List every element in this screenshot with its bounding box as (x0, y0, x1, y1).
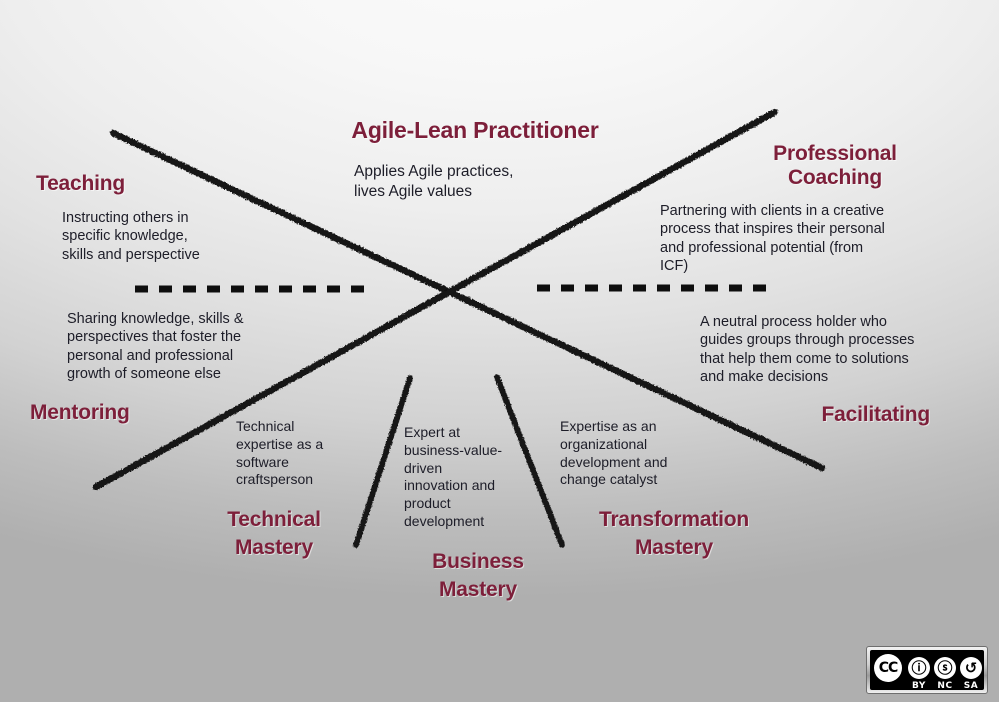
node-transformation-mastery: Expertise as an organizational developme… (560, 418, 810, 562)
cc-sharealike-icon: ↺ (960, 657, 982, 679)
node-business-mastery: Expert at business-value- driven innovat… (404, 424, 564, 603)
technical-mastery-heading: Technical Mastery (194, 506, 354, 562)
cc-nc-label: NC (934, 681, 956, 691)
cc-by-label: BY (908, 681, 930, 691)
business-mastery-heading: Business Mastery (404, 548, 552, 604)
agile-lean-practitioner-description: Applies Agile practices, lives Agile val… (354, 162, 620, 201)
technical-mastery-description: Technical expertise as a software crafts… (236, 418, 394, 489)
professional-coaching-heading: Professional Coaching (712, 142, 958, 190)
business-mastery-description: Expert at business-value- driven innovat… (404, 424, 564, 531)
transformation-mastery-description: Expertise as an organizational developme… (560, 418, 810, 489)
cc-noncommercial-icon: ⓢ (934, 657, 956, 679)
node-agile-lean-practitioner: Agile-Lean Practitioner Applies Agile pr… (330, 117, 620, 201)
creative-commons-badge[interactable]: CC ⓘ ⓢ ↺ BY NC SA (866, 646, 988, 694)
node-technical-mastery: Technical expertise as a software crafts… (194, 418, 394, 562)
agile-lean-practitioner-title: Agile-Lean Practitioner (330, 117, 620, 144)
teaching-description: Instructing others in specific knowledge… (62, 209, 316, 264)
teaching-heading: Teaching (36, 172, 316, 196)
node-professional-coaching: Professional Coaching Partnering with cl… (660, 142, 958, 276)
node-teaching: Teaching Instructing others in specific … (36, 172, 316, 264)
cc-logo-icon: CC (874, 654, 902, 682)
cc-sa-label: SA (960, 681, 982, 691)
facilitating-description: A neutral process holder who guides grou… (700, 313, 968, 387)
cc-badge-inner: CC ⓘ ⓢ ↺ BY NC SA (870, 650, 984, 690)
mentoring-description: Sharing knowledge, skills & perspectives… (67, 310, 330, 384)
node-mentoring: Sharing knowledge, skills & perspectives… (30, 310, 330, 425)
professional-coaching-description: Partnering with clients in a creative pr… (660, 202, 958, 276)
cc-attribution-icon: ⓘ (908, 657, 930, 679)
diagram-canvas: Agile-Lean Practitioner Applies Agile pr… (0, 0, 999, 702)
transformation-mastery-heading: Transformation Mastery (560, 506, 788, 562)
node-facilitating: A neutral process holder who guides grou… (700, 313, 968, 427)
